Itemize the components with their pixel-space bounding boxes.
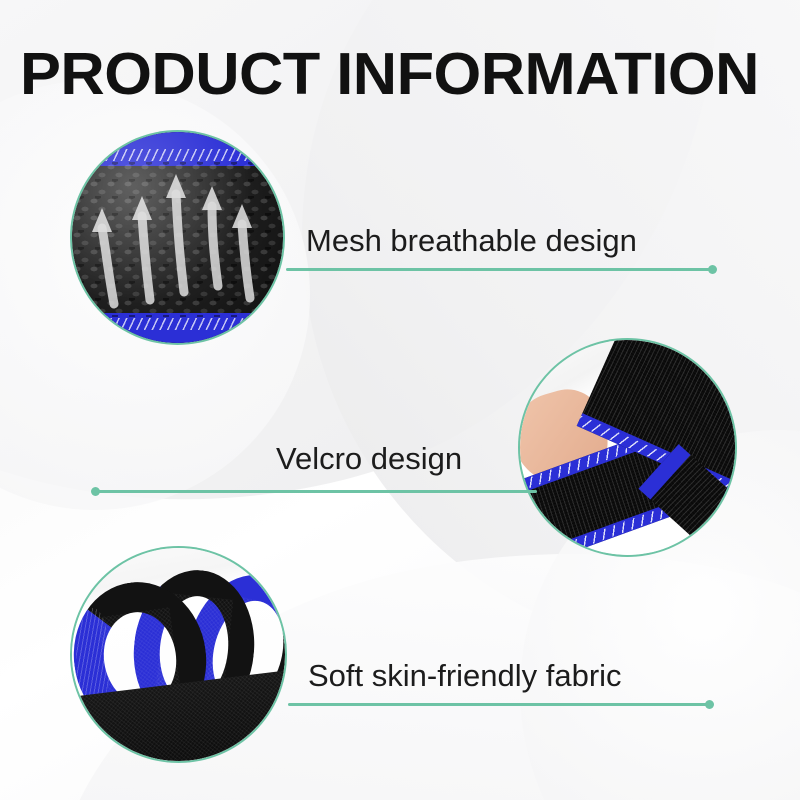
- page-title: PRODUCT INFORMATION: [20, 44, 800, 104]
- connector-line-mesh: [286, 268, 716, 271]
- feature-label-mesh: Mesh breathable design: [306, 222, 637, 260]
- feature-label-velcro: Velcro design: [276, 440, 462, 478]
- mesh-highlight: [72, 132, 283, 343]
- feature-image-velcro: [520, 340, 735, 555]
- fabric-photo-frame: [72, 548, 285, 761]
- feature-image-fabric: [72, 548, 285, 761]
- mesh-photo-frame: [72, 132, 283, 343]
- product-information-infographic: PRODUCT INFORMATION: [0, 0, 800, 800]
- feature-image-mesh: [72, 132, 283, 343]
- connector-line-fabric: [288, 703, 713, 706]
- connector-line-velcro: [92, 490, 537, 493]
- connector-dot-fabric: [705, 700, 714, 709]
- connector-dot-mesh: [708, 265, 717, 274]
- connector-dot-velcro: [91, 487, 100, 496]
- feature-label-fabric: Soft skin-friendly fabric: [308, 657, 622, 695]
- velcro-photo-frame: [520, 340, 735, 555]
